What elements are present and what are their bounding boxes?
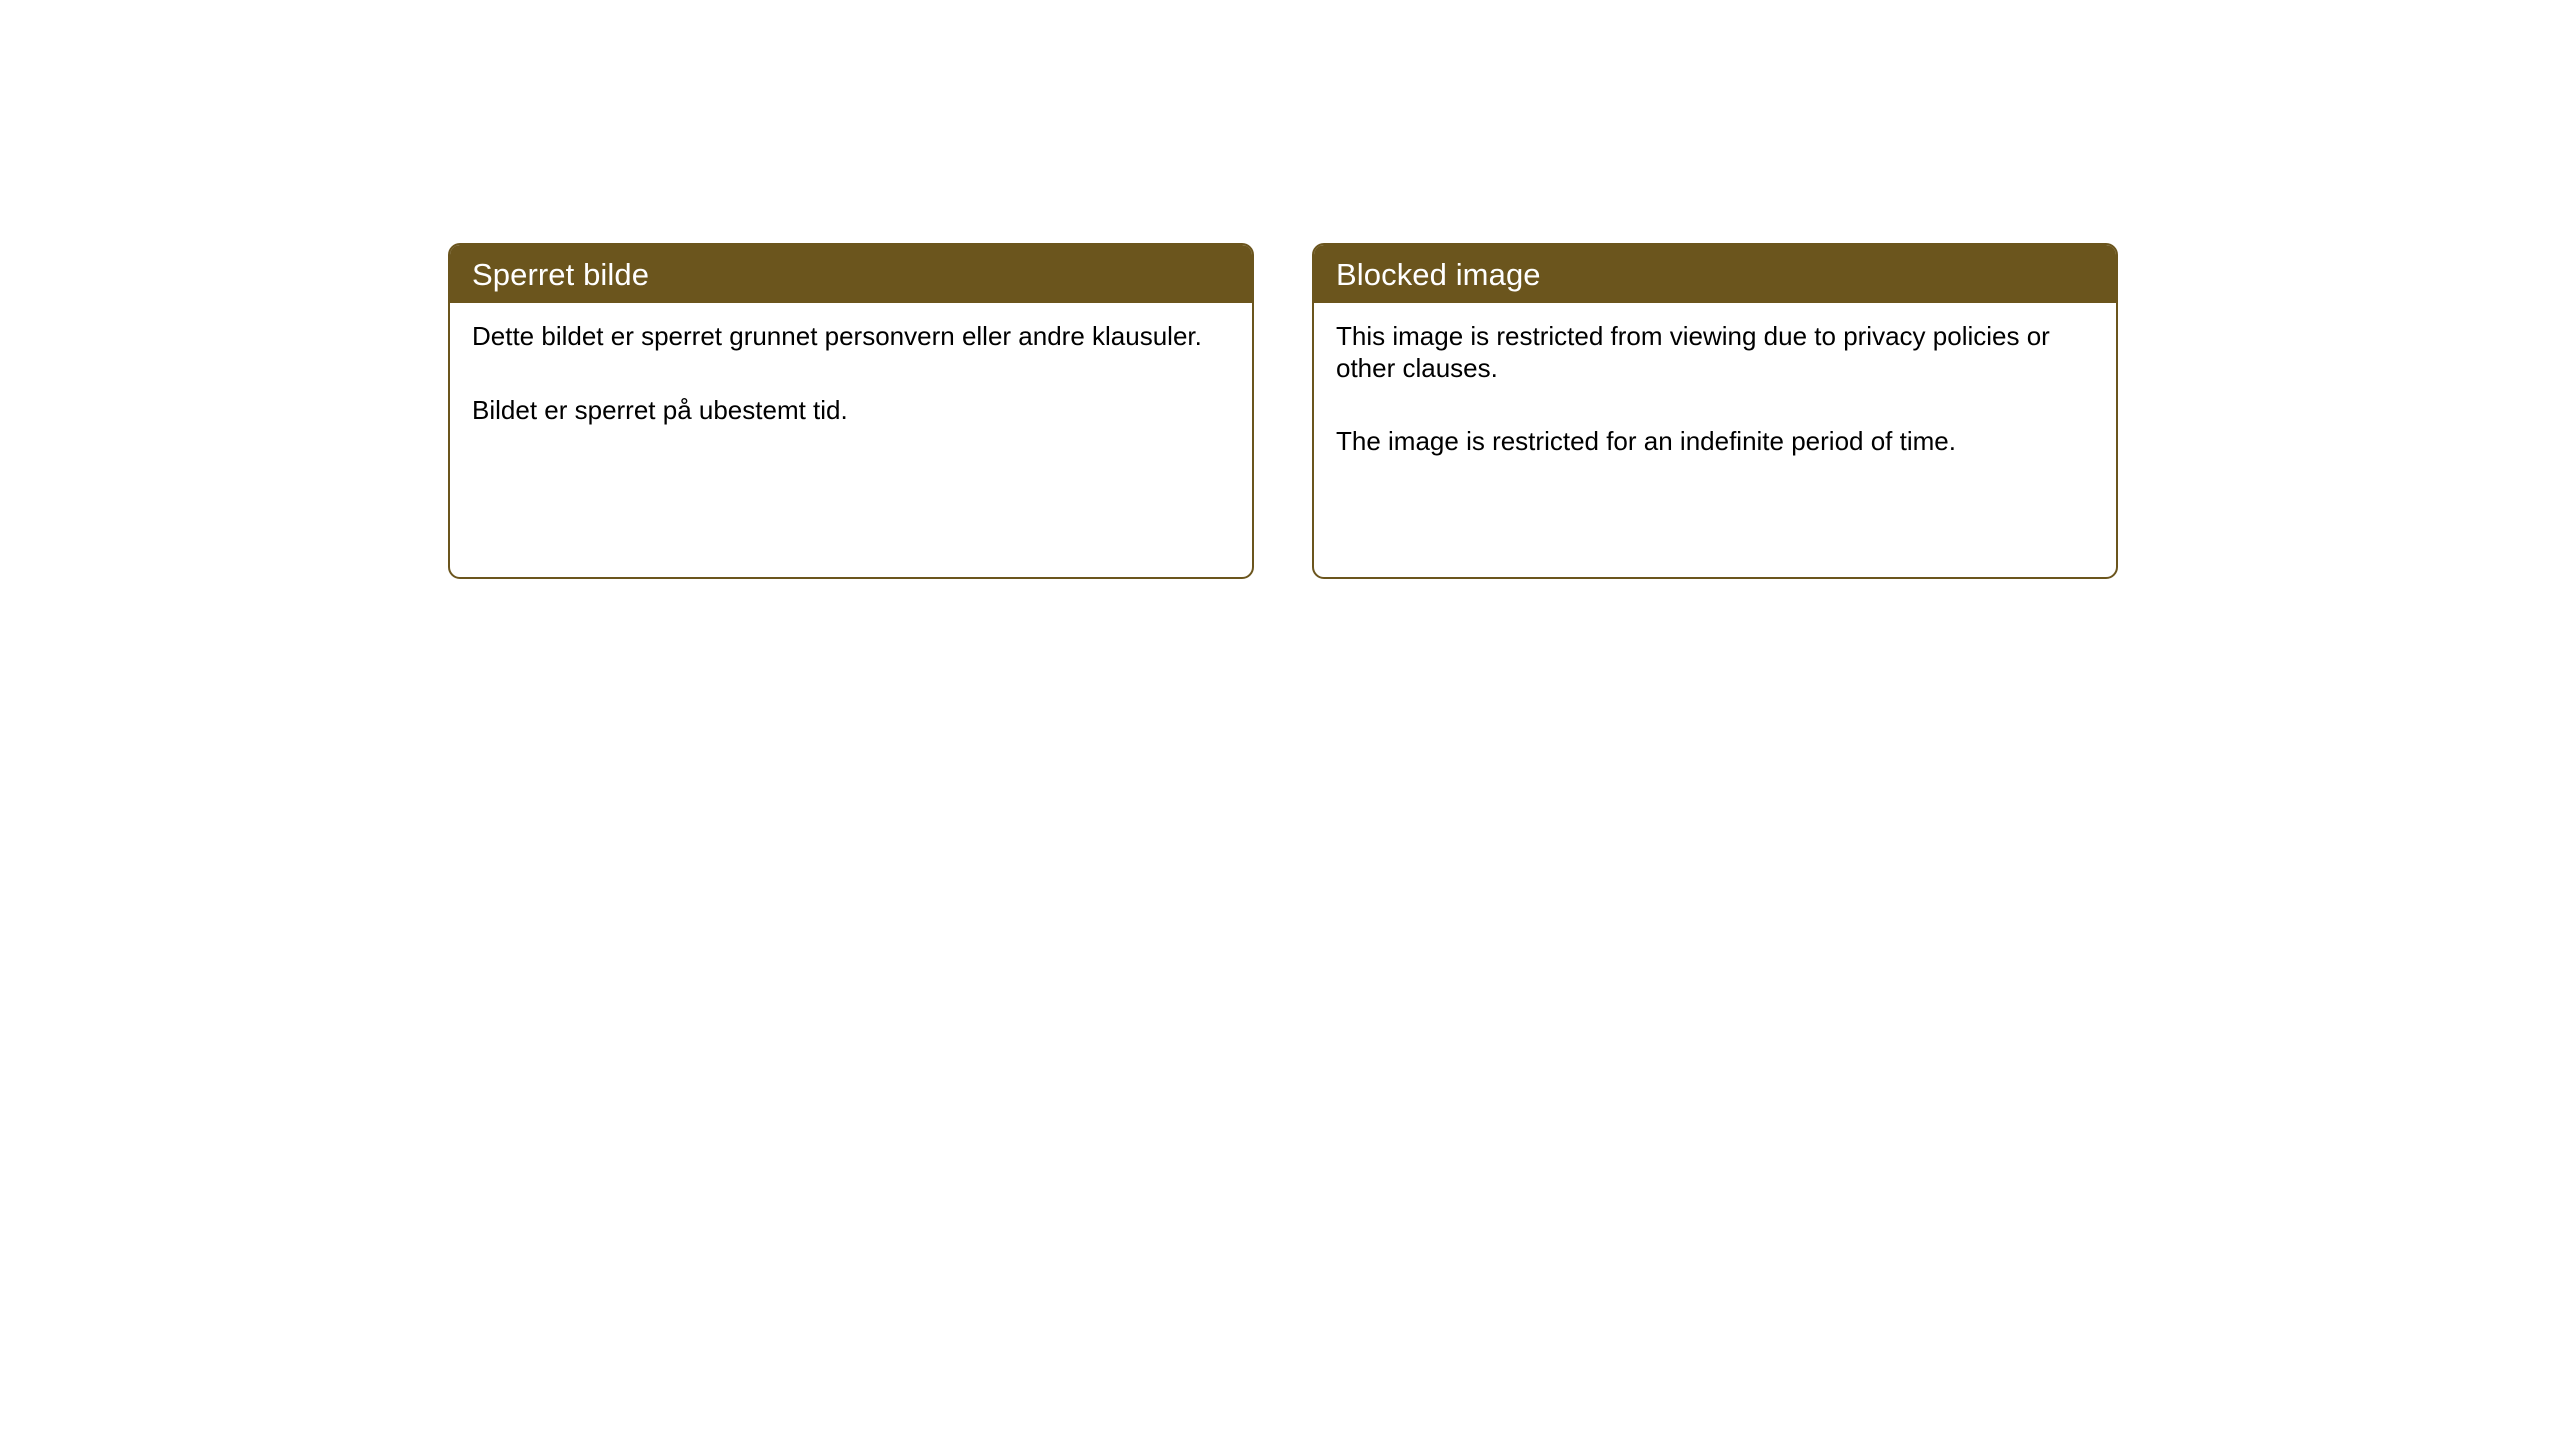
- card-paragraph-no-2: Bildet er sperret på ubestemt tid.: [472, 395, 1232, 427]
- card-paragraph-en-1: This image is restricted from viewing du…: [1336, 321, 2090, 384]
- blocked-image-card-no: Sperret bilde Dette bildet er sperret gr…: [448, 243, 1254, 579]
- card-paragraph-en-2: The image is restricted for an indefinit…: [1336, 426, 2090, 458]
- card-title-no: Sperret bilde: [450, 245, 1252, 303]
- card-title-en: Blocked image: [1314, 245, 2116, 303]
- card-body-en: This image is restricted from viewing du…: [1314, 303, 2116, 468]
- card-body-no: Dette bildet er sperret grunnet personve…: [450, 303, 1252, 436]
- blocked-image-card-en: Blocked image This image is restricted f…: [1312, 243, 2118, 579]
- page-canvas: Sperret bilde Dette bildet er sperret gr…: [0, 0, 2560, 1440]
- card-paragraph-no-1: Dette bildet er sperret grunnet personve…: [472, 321, 1232, 353]
